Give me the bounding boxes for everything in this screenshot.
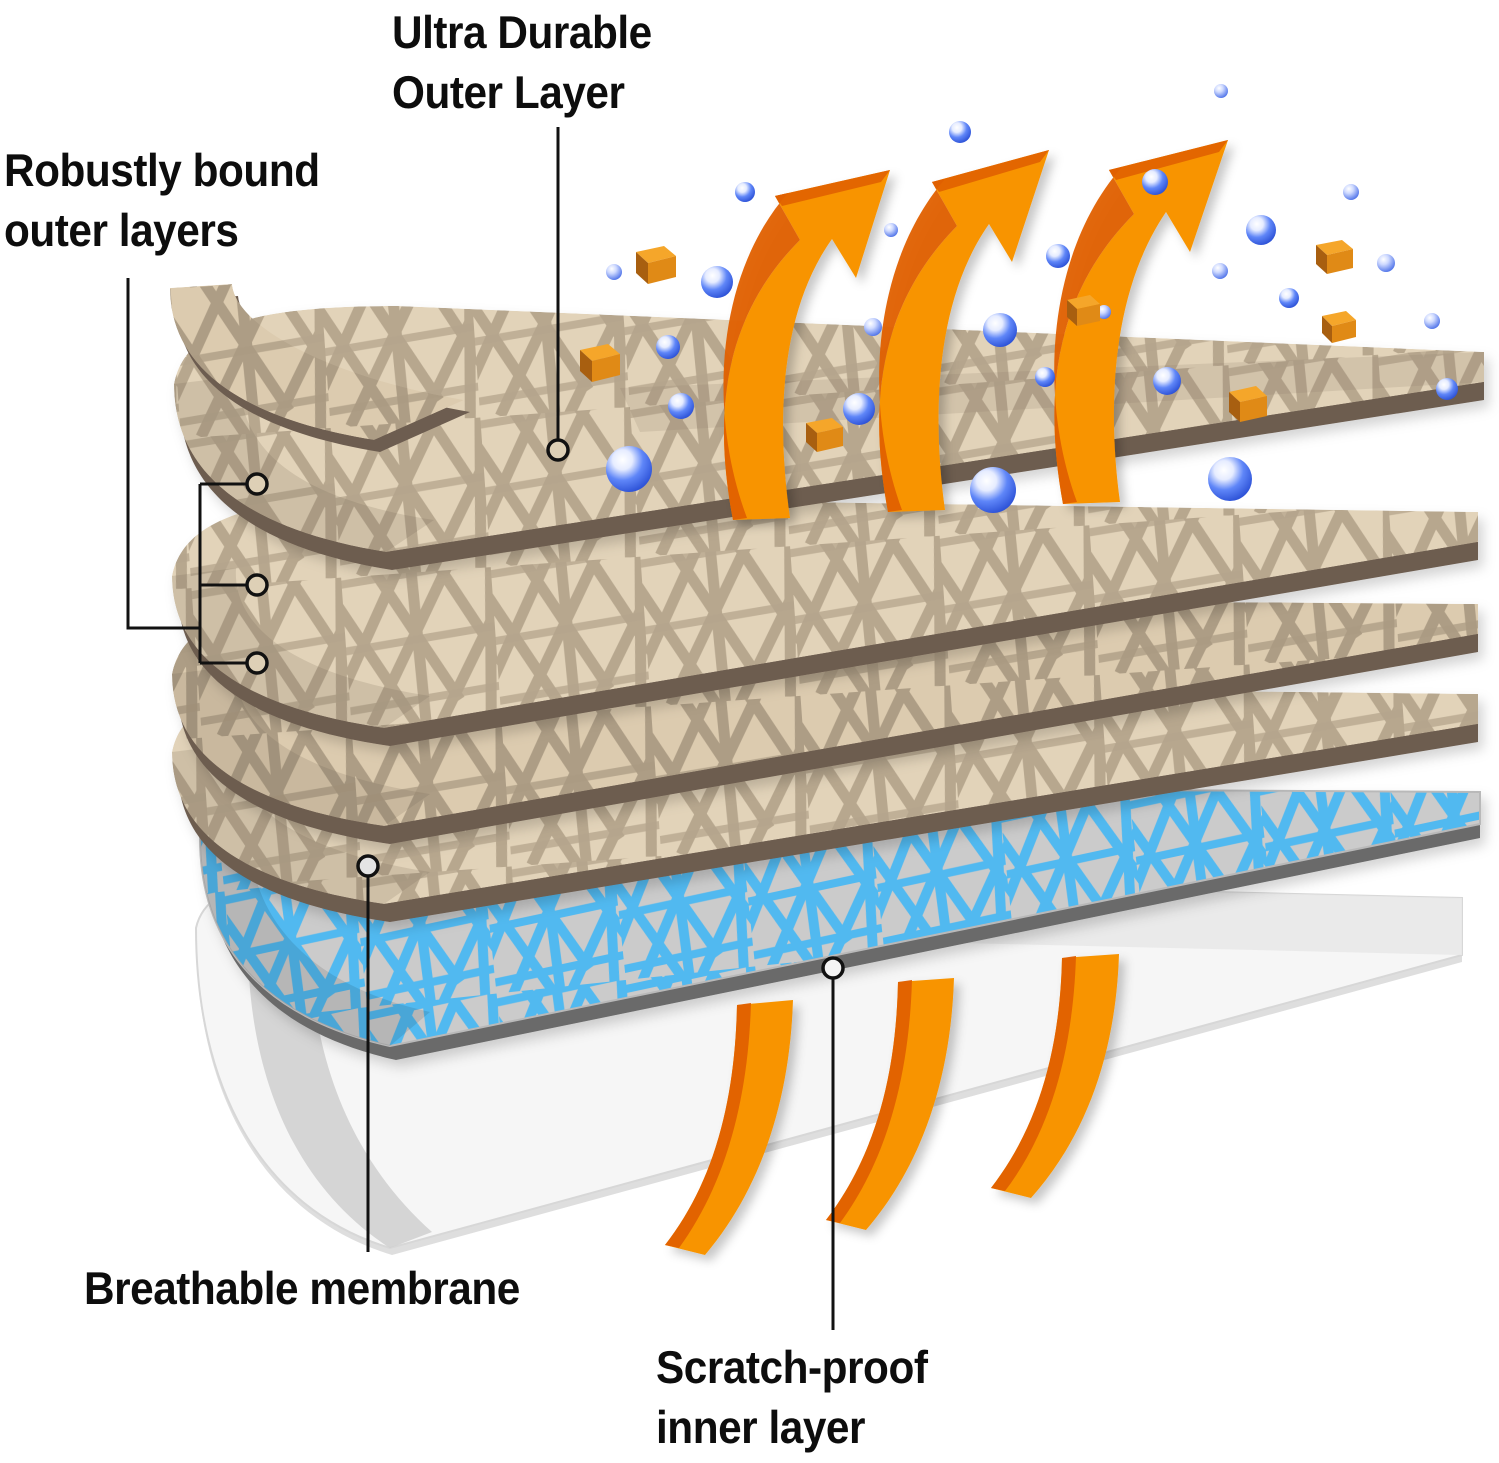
callout-dot-scratch-proof [823, 958, 843, 978]
dirt-cube [1316, 240, 1353, 274]
diagram-canvas: Ultra Durable Outer Layer Robustly bound… [0, 0, 1499, 1463]
callout-dot-bound-2 [247, 575, 267, 595]
callout-dot-bound-1 [247, 474, 267, 494]
callout-dot-breathable-membrane [358, 856, 378, 876]
label-robustly-bound-outer-layers: Robustly bound outer layers [4, 140, 320, 260]
callout-dot-bound-3 [247, 653, 267, 673]
label-breathable-membrane: Breathable membrane [84, 1258, 520, 1318]
label-ultra-durable-outer-layer: Ultra Durable Outer Layer [392, 2, 652, 122]
dirt-cube [1322, 311, 1356, 343]
dirt-cube [1229, 386, 1267, 422]
label-scratch-proof-inner-layer: Scratch-proof inner layer [656, 1337, 927, 1457]
callout-dot-ultra-durable [548, 440, 568, 460]
dirt-cube [806, 418, 843, 452]
dirt-cube [580, 344, 620, 382]
dirt-cube [1067, 295, 1100, 326]
dirt-cube [636, 246, 676, 284]
